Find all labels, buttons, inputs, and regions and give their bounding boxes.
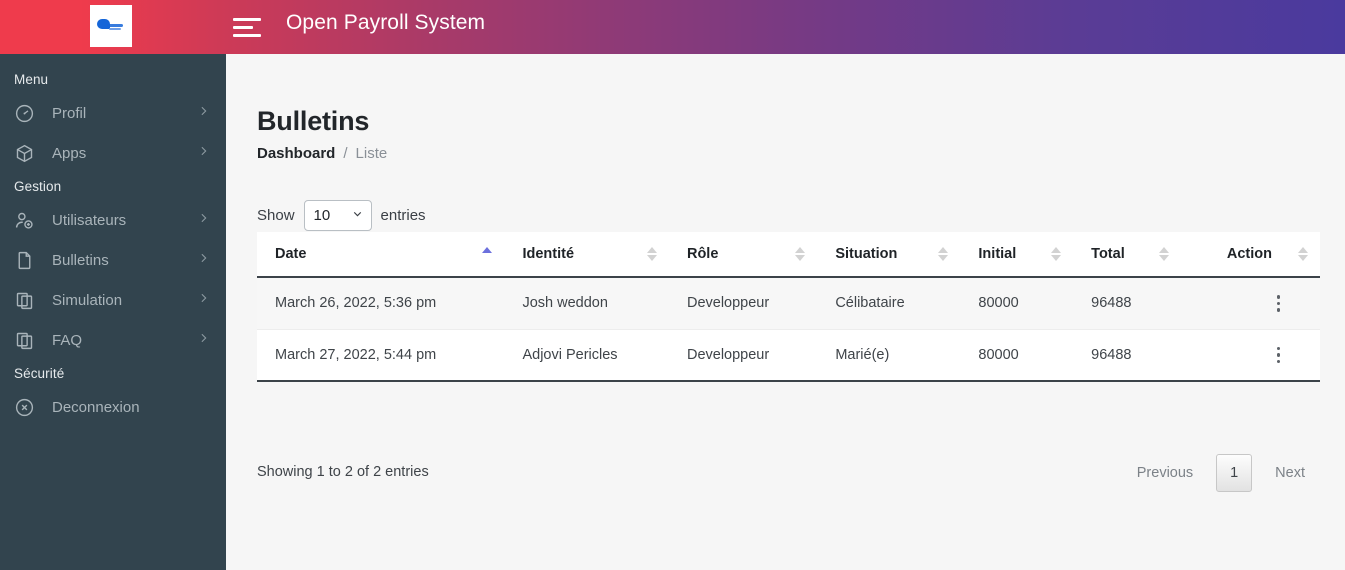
kebab-menu-icon[interactable] — [1277, 295, 1281, 312]
chevron-right-icon — [197, 212, 210, 229]
sidebar-item-label: Deconnexion — [52, 400, 140, 415]
sidebar-section-menu: Menu — [0, 66, 226, 93]
sidebar-section-gestion: Gestion — [0, 173, 226, 200]
sort-icon — [1159, 245, 1169, 263]
sort-icon — [647, 245, 657, 263]
cell-total: 96488 — [1073, 329, 1180, 381]
breadcrumb-dashboard[interactable]: Dashboard — [257, 145, 335, 162]
sidebar-item-bulletins[interactable]: Bulletins — [0, 240, 226, 280]
column-label: Date — [275, 246, 306, 262]
column-header-date[interactable]: Date — [257, 232, 504, 277]
table-body: March 26, 2022, 5:36 pm Josh weddon Deve… — [257, 277, 1320, 381]
data-table: Date Identité Rôle Situation — [257, 232, 1320, 382]
column-label: Rôle — [687, 246, 718, 262]
pagination-page-1[interactable]: 1 — [1216, 454, 1252, 492]
sidebar-item-label: Simulation — [52, 293, 122, 308]
cell-identite: Josh weddon — [504, 277, 669, 329]
table-info: Showing 1 to 2 of 2 entries — [257, 464, 429, 480]
cell-initial: 80000 — [960, 277, 1073, 329]
app-logo[interactable] — [90, 5, 132, 47]
cell-total: 96488 — [1073, 277, 1180, 329]
kebab-menu-icon[interactable] — [1277, 347, 1281, 364]
pagination-previous[interactable]: Previous — [1122, 456, 1208, 490]
pagination: Previous 1 Next — [1122, 454, 1320, 492]
app-root: Open Payroll System Menu Profil Apps — [0, 0, 1345, 570]
app-title: Open Payroll System — [286, 11, 485, 35]
sidebar-item-utilisateurs[interactable]: Utilisateurs — [0, 200, 226, 240]
page-length-select[interactable]: 102550100 — [304, 200, 372, 231]
main-content: Bulletins Dashboard / Liste Show 1025501… — [226, 54, 1345, 570]
column-label: Action — [1227, 246, 1272, 262]
column-header-total[interactable]: Total — [1073, 232, 1180, 277]
sidebar-section-securite: Sécurité — [0, 360, 226, 387]
user-add-icon — [14, 209, 40, 231]
sidebar: Menu Profil Apps Gestion — [0, 54, 226, 570]
box-icon — [14, 142, 40, 164]
cell-situation: Célibataire — [817, 277, 960, 329]
chevron-right-icon — [197, 332, 210, 349]
page-title: Bulletins — [257, 106, 369, 137]
sidebar-item-label: Apps — [52, 146, 86, 161]
column-header-situation[interactable]: Situation — [817, 232, 960, 277]
table-row[interactable]: March 27, 2022, 5:44 pm Adjovi Pericles … — [257, 329, 1320, 381]
cell-date: March 27, 2022, 5:44 pm — [257, 329, 504, 381]
cell-action — [1181, 277, 1320, 329]
table-length-control: Show 102550100 entries — [257, 200, 426, 231]
sidebar-item-deconnexion[interactable]: Deconnexion — [0, 387, 226, 427]
sidebar-item-label: Profil — [52, 106, 86, 121]
cell-situation: Marié(e) — [817, 329, 960, 381]
chevron-right-icon — [197, 292, 210, 309]
cell-role: Developpeur — [669, 277, 817, 329]
sidebar-item-simulation[interactable]: Simulation — [0, 280, 226, 320]
file-icon — [14, 249, 40, 271]
chevron-right-icon — [197, 252, 210, 269]
entries-label: entries — [381, 207, 426, 224]
show-label: Show — [257, 207, 295, 224]
sidebar-item-apps[interactable]: Apps — [0, 133, 226, 173]
copy-icon — [14, 329, 40, 351]
sidebar-item-faq[interactable]: FAQ — [0, 320, 226, 360]
sidebar-item-label: Bulletins — [52, 253, 109, 268]
table-head: Date Identité Rôle Situation — [257, 232, 1320, 277]
gauge-icon — [14, 102, 40, 124]
cell-action — [1181, 329, 1320, 381]
breadcrumb-separator: / — [343, 145, 347, 162]
data-table-wrapper: Date Identité Rôle Situation — [257, 232, 1320, 382]
sidebar-item-label: Utilisateurs — [52, 213, 126, 228]
column-label: Total — [1091, 246, 1125, 262]
column-label: Initial — [978, 246, 1016, 262]
sort-icon — [795, 245, 805, 263]
column-label: Identité — [522, 246, 574, 262]
top-bar: Open Payroll System — [0, 0, 1345, 54]
sort-icon — [1051, 245, 1061, 263]
page-length-select-wrap: 102550100 — [304, 200, 372, 231]
table-header-row: Date Identité Rôle Situation — [257, 232, 1320, 277]
pagination-next[interactable]: Next — [1260, 456, 1320, 490]
sidebar-item-label: FAQ — [52, 333, 82, 348]
cell-initial: 80000 — [960, 329, 1073, 381]
breadcrumb: Dashboard / Liste — [257, 145, 387, 162]
column-header-role[interactable]: Rôle — [669, 232, 817, 277]
cell-identite: Adjovi Pericles — [504, 329, 669, 381]
copy-icon — [14, 289, 40, 311]
cell-role: Developpeur — [669, 329, 817, 381]
chevron-right-icon — [197, 145, 210, 162]
logout-circle-icon — [14, 396, 40, 418]
column-header-initial[interactable]: Initial — [960, 232, 1073, 277]
column-header-identite[interactable]: Identité — [504, 232, 669, 277]
breadcrumb-current: Liste — [356, 145, 388, 162]
sort-icon — [938, 245, 948, 263]
sort-ascending-icon — [482, 245, 492, 263]
table-row[interactable]: March 26, 2022, 5:36 pm Josh weddon Deve… — [257, 277, 1320, 329]
sidebar-item-profil[interactable]: Profil — [0, 93, 226, 133]
column-label: Situation — [835, 246, 897, 262]
chevron-right-icon — [197, 105, 210, 122]
column-header-action[interactable]: Action — [1181, 232, 1320, 277]
logo-icon — [97, 18, 125, 34]
hamburger-icon[interactable] — [233, 12, 263, 42]
sort-icon — [1298, 245, 1308, 263]
cell-date: March 26, 2022, 5:36 pm — [257, 277, 504, 329]
